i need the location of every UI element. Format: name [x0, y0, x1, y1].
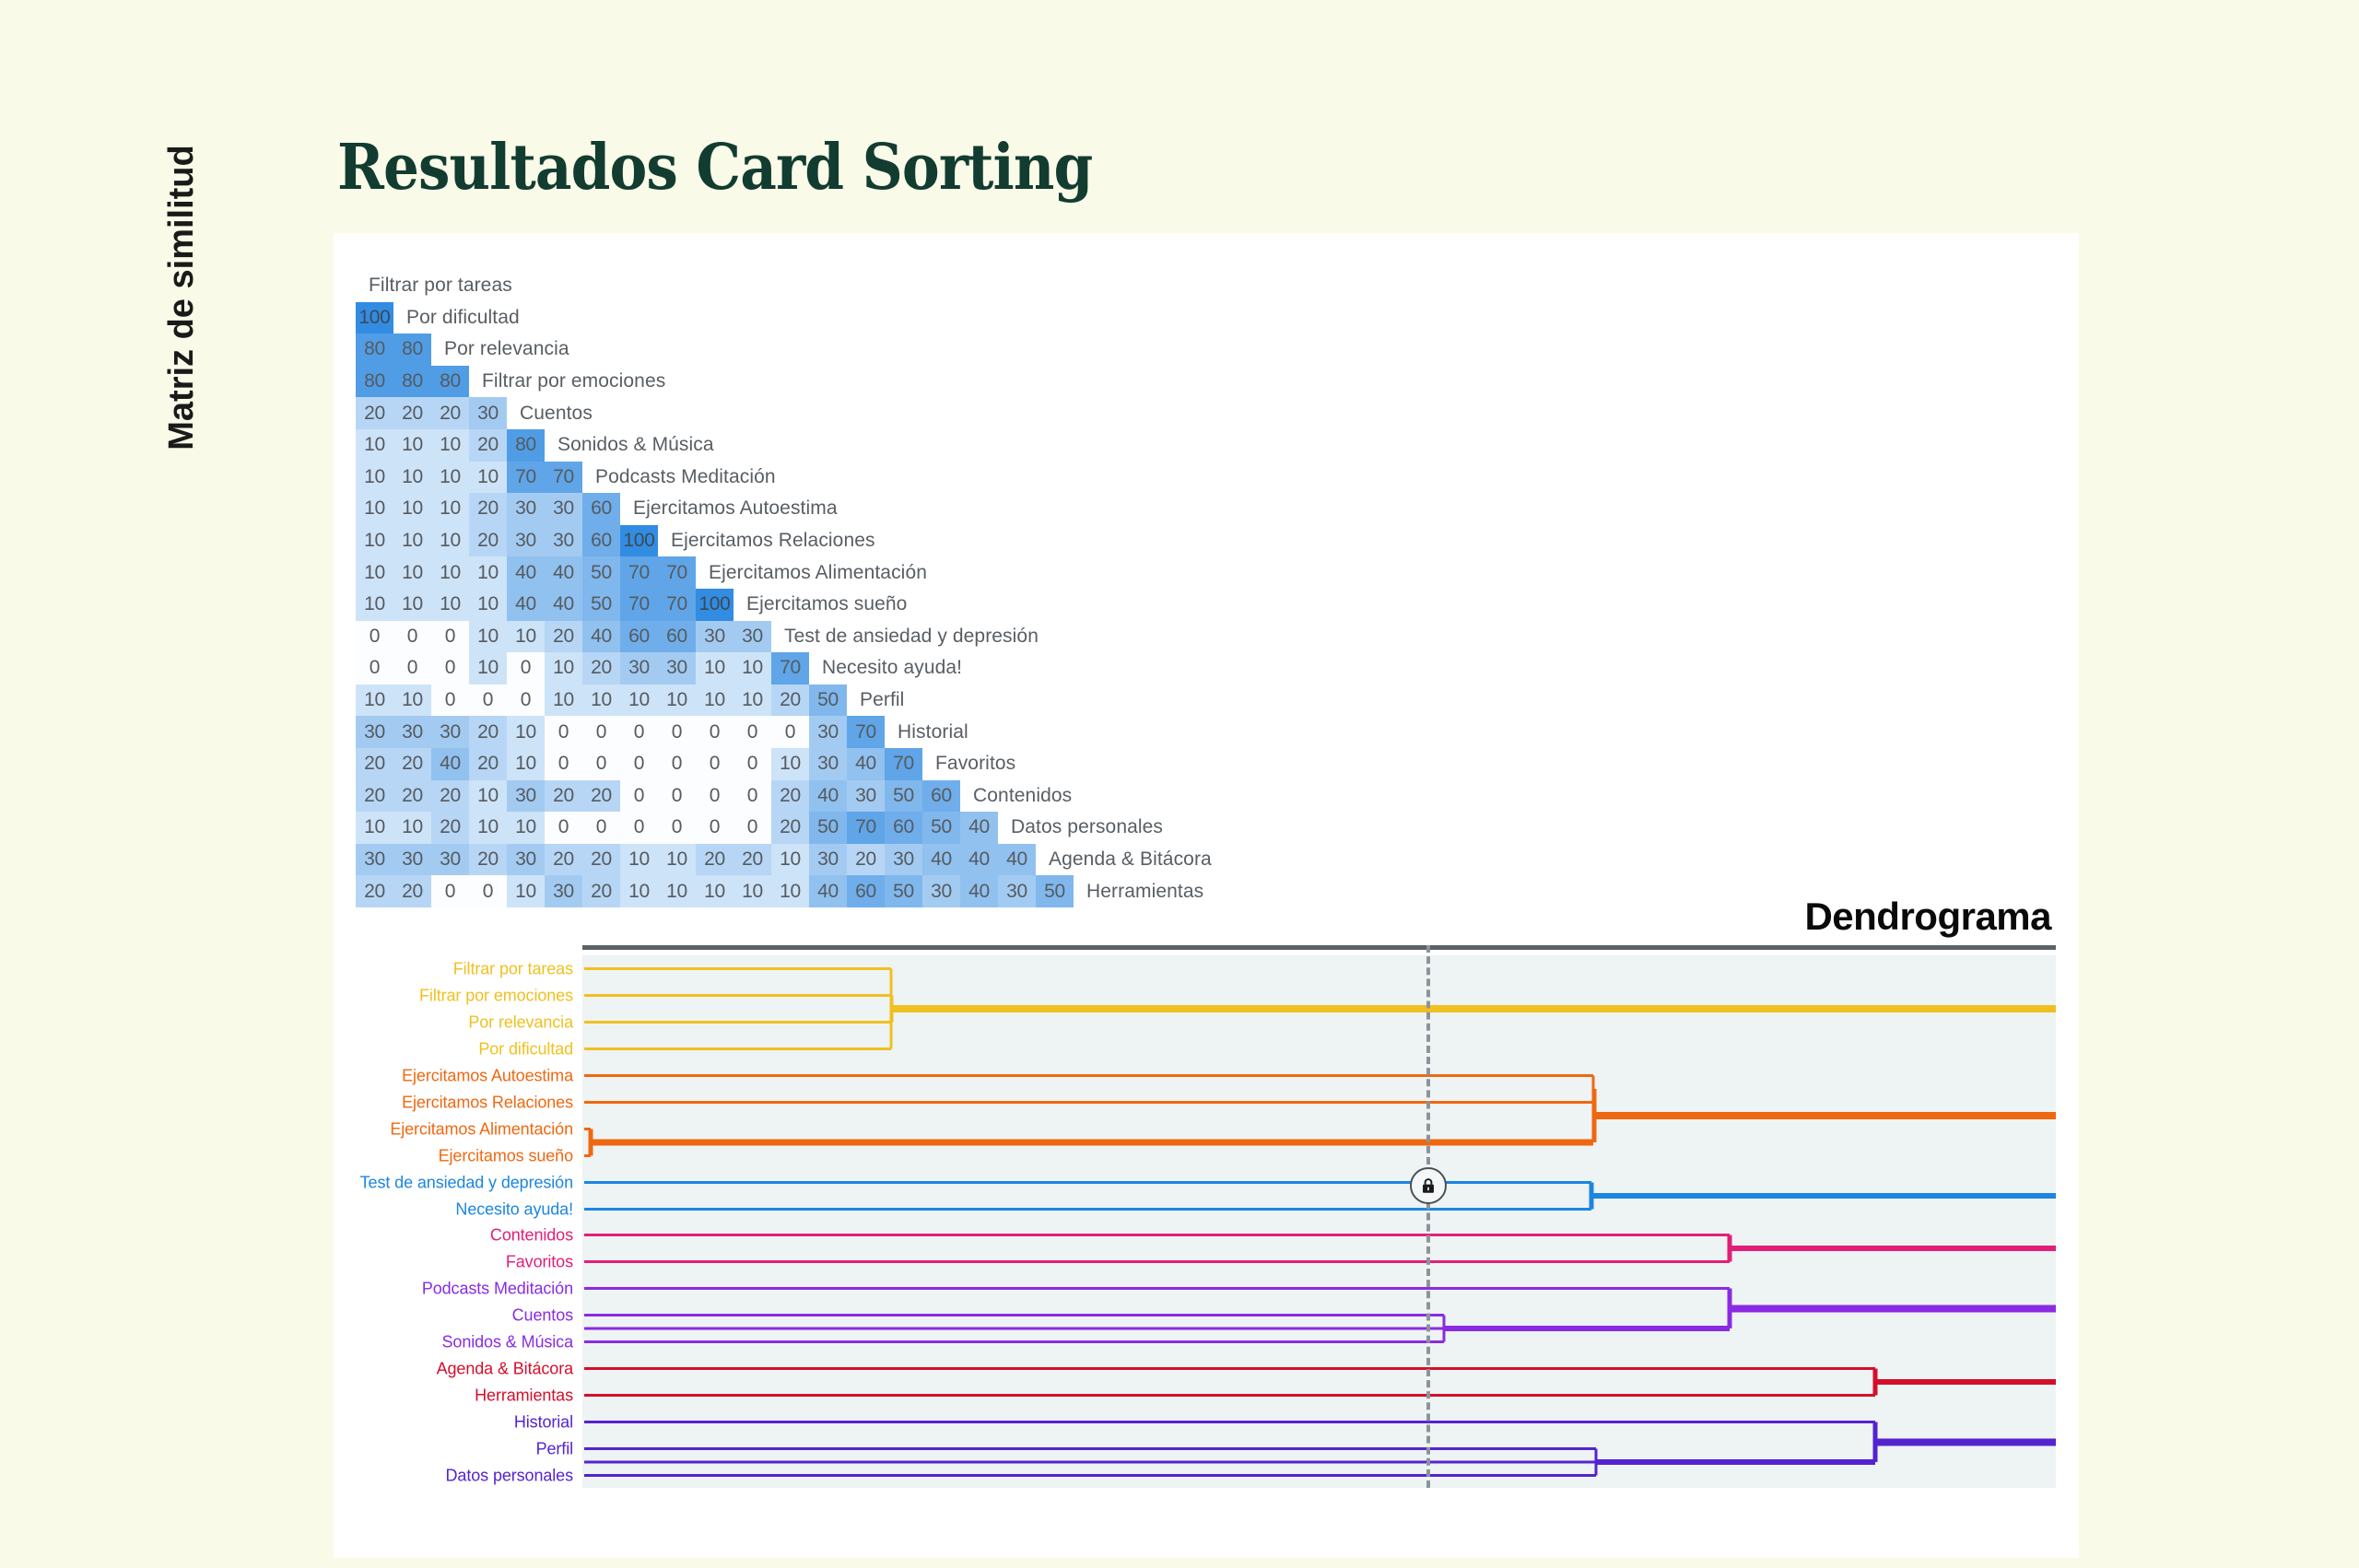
- matrix-cell: 10: [431, 525, 469, 557]
- matrix-cell: 20: [393, 748, 431, 780]
- matrix-row: 8080Por relevancia: [356, 333, 1212, 366]
- matrix-cell: 30: [507, 525, 545, 557]
- matrix-row: 202040201000000010304070Favoritos: [356, 748, 1212, 780]
- matrix-cell: 10: [431, 429, 469, 462]
- matrix-row-label: Perfil: [860, 689, 904, 711]
- matrix-cell: 10: [356, 462, 393, 494]
- matrix-cell: 10: [469, 812, 507, 844]
- matrix-cell: 100: [696, 589, 734, 621]
- dendrogram-leaf-label: Por relevancia: [468, 1012, 573, 1032]
- matrix-cell: 20: [469, 748, 507, 780]
- matrix-cell: 40: [847, 748, 885, 780]
- dendrogram-leaf-label: Ejercitamos Autoestima: [402, 1066, 573, 1085]
- matrix-row-label: Necesito ayuda!: [822, 657, 962, 679]
- matrix-row-label: Historial: [898, 721, 968, 743]
- matrix-cell: 70: [847, 716, 885, 748]
- matrix-cell: 0: [696, 748, 734, 780]
- similarity-matrix-section: Matriz de similitud Filtrar por tareas10…: [334, 233, 2079, 896]
- matrix-cell: 50: [885, 780, 922, 813]
- matrix-cell: 0: [696, 812, 734, 844]
- matrix-cell: 30: [734, 621, 771, 653]
- dendrogram-plot: [582, 955, 2056, 1488]
- matrix-cell: 40: [545, 589, 582, 621]
- matrix-cell: 10: [771, 748, 809, 780]
- matrix-cell: 40: [960, 812, 998, 844]
- matrix-cell: 10: [356, 812, 393, 844]
- matrix-cell: 20: [771, 780, 809, 813]
- matrix-cell: 80: [393, 333, 431, 366]
- matrix-cell: 20: [545, 844, 582, 876]
- matrix-cell: 10: [469, 780, 507, 813]
- matrix-cell: 0: [582, 812, 620, 844]
- matrix-cell: 60: [885, 812, 922, 844]
- matrix-cell: 20: [469, 844, 507, 876]
- matrix-cell: 30: [469, 397, 507, 429]
- matrix-row-label: Ejercitamos sueño: [746, 593, 907, 615]
- matrix-cell: 0: [507, 652, 545, 685]
- matrix-cell: 60: [582, 525, 620, 557]
- matrix-cell: 10: [393, 525, 431, 557]
- matrix-cell: 10: [658, 844, 696, 876]
- matrix-row-label: Datos personales: [1011, 816, 1163, 838]
- matrix-cell: 40: [998, 844, 1036, 876]
- matrix-cell: 60: [582, 493, 620, 525]
- matrix-cell: 10: [431, 493, 469, 525]
- matrix-cell: 10: [469, 462, 507, 494]
- matrix-cell: 10: [507, 716, 545, 748]
- matrix-cell: 30: [507, 844, 545, 876]
- matrix-cell: 10: [356, 589, 393, 621]
- matrix-row: 1010102080Sonidos & Música: [356, 429, 1212, 462]
- matrix-cell: 0: [658, 780, 696, 813]
- matrix-cell: 10: [620, 685, 658, 717]
- dendrogram-leaf-label: Por dificultad: [478, 1039, 573, 1059]
- matrix-cell: 0: [431, 652, 469, 685]
- dendrogram-leaf-label: Agenda & Bitácora: [437, 1359, 573, 1378]
- matrix-cell: 30: [431, 716, 469, 748]
- matrix-row-label: Por dificultad: [406, 307, 520, 329]
- similarity-matrix: Filtrar por tareas100Por dificultad8080P…: [356, 270, 1212, 907]
- matrix-cell: 40: [922, 844, 960, 876]
- matrix-cell: 0: [582, 748, 620, 780]
- matrix-cell: 30: [393, 716, 431, 748]
- matrix-cell: 0: [356, 652, 393, 685]
- matrix-cell: 70: [658, 556, 696, 589]
- matrix-cell: 10: [393, 589, 431, 621]
- matrix-cell: 40: [507, 556, 545, 589]
- matrix-cell: 20: [734, 844, 771, 876]
- matrix-row: 10101020303060100Ejercitamos Relaciones: [356, 525, 1212, 557]
- matrix-row: 808080Filtrar por emociones: [356, 366, 1212, 398]
- matrix-row: 10101020303060Ejercitamos Autoestima: [356, 493, 1212, 525]
- matrix-cell: 80: [507, 429, 545, 462]
- dendrogram-leaf-label: Ejercitamos Alimentación: [390, 1119, 573, 1139]
- matrix-cell: 30: [809, 844, 847, 876]
- matrix-cell: 0: [545, 716, 582, 748]
- matrix-cell: 20: [469, 525, 507, 557]
- dendrogram-leaf-label: Podcasts Meditación: [422, 1279, 573, 1298]
- matrix-cell: 30: [545, 493, 582, 525]
- matrix-row-label: Filtrar por tareas: [369, 275, 512, 297]
- dendrogram-leaf-label: Test de ansiedad y depresión: [360, 1173, 573, 1192]
- matrix-cell: 10: [734, 685, 771, 717]
- matrix-row: 101010104040507070100Ejercitamos sueño: [356, 589, 1212, 621]
- matrix-cell: 50: [809, 812, 847, 844]
- dendrogram-leaf-label: Filtrar por tareas: [453, 959, 573, 978]
- matrix-cell: 10: [356, 525, 393, 557]
- dendrogram-axis-line: [582, 945, 2056, 950]
- matrix-row-label: Contenidos: [973, 785, 1072, 807]
- matrix-cell: 30: [431, 844, 469, 876]
- matrix-cell: 30: [885, 844, 922, 876]
- matrix-row-label: Podcasts Meditación: [595, 466, 776, 488]
- matrix-cell: 40: [960, 844, 998, 876]
- matrix-cell: 20: [582, 652, 620, 685]
- matrix-cell: 0: [771, 716, 809, 748]
- matrix-cell: 80: [356, 333, 393, 366]
- matrix-cell: 10: [431, 589, 469, 621]
- matrix-row: Filtrar por tareas: [356, 270, 1212, 302]
- matrix-cell: 20: [356, 780, 393, 813]
- matrix-row-label: Ejercitamos Alimentación: [709, 562, 927, 584]
- matrix-cell: 0: [620, 748, 658, 780]
- matrix-cell: 40: [809, 780, 847, 813]
- matrix-cell: 0: [734, 748, 771, 780]
- matrix-cell: 20: [582, 844, 620, 876]
- matrix-row: 0001010204060603030Test de ansiedad y de…: [356, 621, 1212, 653]
- matrix-row: 1010201010000000205070605040Datos person…: [356, 812, 1212, 844]
- matrix-cell: 10: [658, 685, 696, 717]
- matrix-cell: 0: [734, 780, 771, 813]
- matrix-cell: 10: [507, 621, 545, 653]
- slide-canvas: Resultados Card Sorting Matriz de simili…: [0, 0, 2359, 1568]
- matrix-cell: 0: [620, 812, 658, 844]
- matrix-cell: 100: [356, 302, 393, 334]
- matrix-cell: 20: [771, 685, 809, 717]
- matrix-cell: 20: [431, 812, 469, 844]
- matrix-cell: 0: [734, 716, 771, 748]
- matrix-cell: 30: [356, 716, 393, 748]
- lock-icon[interactable]: [1410, 1167, 1447, 1204]
- matrix-cell: 20: [393, 780, 431, 813]
- matrix-cell: 0: [658, 812, 696, 844]
- matrix-row: 20202030Cuentos: [356, 397, 1212, 429]
- matrix-row: 303030201000000003070Historial: [356, 716, 1212, 748]
- matrix-cell: 30: [507, 780, 545, 813]
- dendrogram-leaf-label: Necesito ayuda!: [455, 1199, 573, 1219]
- matrix-cell: 0: [393, 621, 431, 653]
- matrix-cell: 10: [469, 589, 507, 621]
- matrix-row: 00010010203030101070Necesito ayuda!: [356, 652, 1212, 685]
- matrix-cell: 0: [658, 748, 696, 780]
- matrix-cell: 100: [620, 525, 658, 557]
- matrix-cell: 50: [582, 589, 620, 621]
- matrix-row-label: Agenda & Bitácora: [1049, 848, 1212, 871]
- matrix-cell: 0: [545, 812, 582, 844]
- matrix-cell: 10: [356, 685, 393, 717]
- matrix-cell: 70: [507, 462, 545, 494]
- dendrogram-leaf-label: Datos personales: [446, 1466, 573, 1485]
- dendrogram-leaf-label: Contenidos: [490, 1225, 573, 1245]
- matrix-row-label: Filtrar por emociones: [482, 370, 665, 392]
- matrix-cell: 40: [507, 589, 545, 621]
- matrix-cell: 0: [620, 716, 658, 748]
- matrix-cell: 20: [431, 397, 469, 429]
- matrix-cell: 0: [431, 685, 469, 717]
- matrix-cell: 10: [393, 429, 431, 462]
- matrix-cell: 80: [356, 366, 393, 398]
- matrix-cell: 0: [356, 621, 393, 653]
- matrix-cell: 0: [582, 716, 620, 748]
- matrix-cell: 30: [847, 780, 885, 813]
- dendrogram-leaf-label: Ejercitamos sueño: [439, 1146, 573, 1165]
- matrix-cell: 20: [356, 397, 393, 429]
- matrix-cell: 50: [809, 685, 847, 717]
- matrix-cell: 20: [356, 748, 393, 780]
- matrix-row-label: Sonidos & Música: [557, 434, 714, 456]
- matrix-cell: 70: [620, 556, 658, 589]
- matrix-cell: 70: [885, 748, 922, 780]
- matrix-cell: 0: [696, 716, 734, 748]
- dendrogram-leaf-label: Sonidos & Música: [442, 1332, 573, 1352]
- matrix-cell: 0: [507, 685, 545, 717]
- matrix-cell: 10: [393, 556, 431, 589]
- matrix-cell: 10: [356, 493, 393, 525]
- matrix-cell: 20: [545, 780, 582, 813]
- matrix-cell: 30: [620, 652, 658, 685]
- matrix-cell: 40: [582, 621, 620, 653]
- matrix-cell: 10: [582, 685, 620, 717]
- matrix-cell: 20: [545, 621, 582, 653]
- matrix-cell: 20: [393, 397, 431, 429]
- matrix-cell: 10: [356, 429, 393, 462]
- dendrogram-title: Dendrograma: [1804, 895, 2051, 939]
- matrix-cell: 40: [545, 556, 582, 589]
- matrix-cell: 0: [545, 748, 582, 780]
- dendrogram-section: Dendrograma Filtrar por tareasFiltrar po…: [334, 896, 2079, 1558]
- matrix-cell: 10: [771, 844, 809, 876]
- matrix-cell: 10: [393, 493, 431, 525]
- matrix-cell: 20: [469, 716, 507, 748]
- dendrogram-leaf-label: Perfil: [536, 1439, 573, 1458]
- matrix-row: 100Por dificultad: [356, 302, 1212, 334]
- matrix-row-label: Por relevancia: [444, 338, 569, 360]
- matrix-cell: 10: [469, 556, 507, 589]
- matrix-cell: 20: [696, 844, 734, 876]
- matrix-cell: 10: [393, 812, 431, 844]
- dendrogram-leaf-label: Herramientas: [475, 1386, 573, 1405]
- matrix-cell: 30: [809, 716, 847, 748]
- matrix-row: 303030203020201010202010302030404040Agen…: [356, 844, 1212, 876]
- matrix-cell: 0: [469, 685, 507, 717]
- matrix-cell: 60: [922, 780, 960, 813]
- matrix-cell: 10: [431, 462, 469, 494]
- matrix-cell: 10: [469, 652, 507, 685]
- matrix-cell: 20: [431, 780, 469, 813]
- matrix-cell: 20: [771, 812, 809, 844]
- matrix-cell: 10: [545, 652, 582, 685]
- matrix-cell: 10: [393, 462, 431, 494]
- matrix-cell: 80: [431, 366, 469, 398]
- matrix-cell: 50: [582, 556, 620, 589]
- matrix-cell: 50: [922, 812, 960, 844]
- dendrogram-tree: [582, 955, 2056, 1488]
- matrix-cell: 30: [507, 493, 545, 525]
- matrix-cell: 70: [545, 462, 582, 494]
- matrix-cell: 10: [356, 556, 393, 589]
- matrix-cell: 0: [431, 621, 469, 653]
- dendrogram-leaf-label: Cuentos: [512, 1305, 573, 1325]
- matrix-cell: 10: [507, 812, 545, 844]
- matrix-cell: 0: [393, 652, 431, 685]
- matrix-cell: 30: [545, 525, 582, 557]
- matrix-row-label: Favoritos: [935, 753, 1015, 775]
- matrix-axis-label: Matriz de similitud: [162, 67, 202, 528]
- matrix-cell: 60: [620, 621, 658, 653]
- matrix-row-label: Test de ansiedad y depresión: [784, 626, 1039, 648]
- results-card: Matriz de similitud Filtrar por tareas10…: [334, 233, 2079, 1558]
- matrix-cell: 20: [469, 429, 507, 462]
- matrix-cell: 70: [847, 812, 885, 844]
- matrix-cell: 30: [696, 621, 734, 653]
- matrix-cell: 20: [582, 780, 620, 813]
- matrix-row: 10100001010101010102050Perfil: [356, 685, 1212, 717]
- matrix-cell: 10: [696, 685, 734, 717]
- matrix-row-label: Cuentos: [520, 403, 593, 425]
- matrix-cell: 10: [734, 652, 771, 685]
- matrix-cell: 0: [620, 780, 658, 813]
- matrix-cell: 30: [356, 844, 393, 876]
- dendrogram-leaf-label: Filtrar por emociones: [419, 986, 573, 1005]
- matrix-cell: 10: [545, 685, 582, 717]
- matrix-cell: 70: [771, 652, 809, 685]
- matrix-cell: 70: [658, 589, 696, 621]
- matrix-cell: 10: [431, 556, 469, 589]
- matrix-cell: 20: [469, 493, 507, 525]
- page-title: Resultados Card Sorting: [337, 131, 1092, 205]
- dendrogram-leaf-label: Historial: [514, 1412, 573, 1432]
- matrix-cell: 80: [393, 366, 431, 398]
- matrix-cell: 40: [431, 748, 469, 780]
- matrix-row: 2020201030202000002040305060Contenidos: [356, 780, 1212, 813]
- matrix-row: 101010104040507070Ejercitamos Alimentaci…: [356, 556, 1212, 589]
- matrix-cell: 0: [734, 812, 771, 844]
- matrix-cell: 0: [696, 780, 734, 813]
- matrix-cell: 30: [658, 652, 696, 685]
- matrix-cell: 20: [847, 844, 885, 876]
- matrix-cell: 70: [620, 589, 658, 621]
- matrix-cell: 10: [507, 748, 545, 780]
- matrix-row-label: Ejercitamos Autoestima: [633, 497, 838, 520]
- matrix-cell: 30: [809, 748, 847, 780]
- matrix-cell: 10: [620, 844, 658, 876]
- dendrogram-leaf-label: Favoritos: [506, 1252, 573, 1271]
- matrix-cell: 10: [696, 652, 734, 685]
- matrix-cell: 30: [393, 844, 431, 876]
- dendrogram-cut-line[interactable]: [1426, 945, 1430, 1488]
- matrix-cell: 10: [469, 621, 507, 653]
- dendrogram-leaf-labels: Filtrar por tareasFiltrar por emocionesP…: [334, 955, 581, 1488]
- matrix-cell: 60: [658, 621, 696, 653]
- matrix-cell: 10: [393, 685, 431, 717]
- matrix-row-label: Ejercitamos Relaciones: [671, 530, 875, 552]
- matrix-cell: 0: [658, 716, 696, 748]
- matrix-row: 101010107070Podcasts Meditación: [356, 462, 1212, 494]
- dendrogram-leaf-label: Ejercitamos Relaciones: [402, 1093, 573, 1112]
